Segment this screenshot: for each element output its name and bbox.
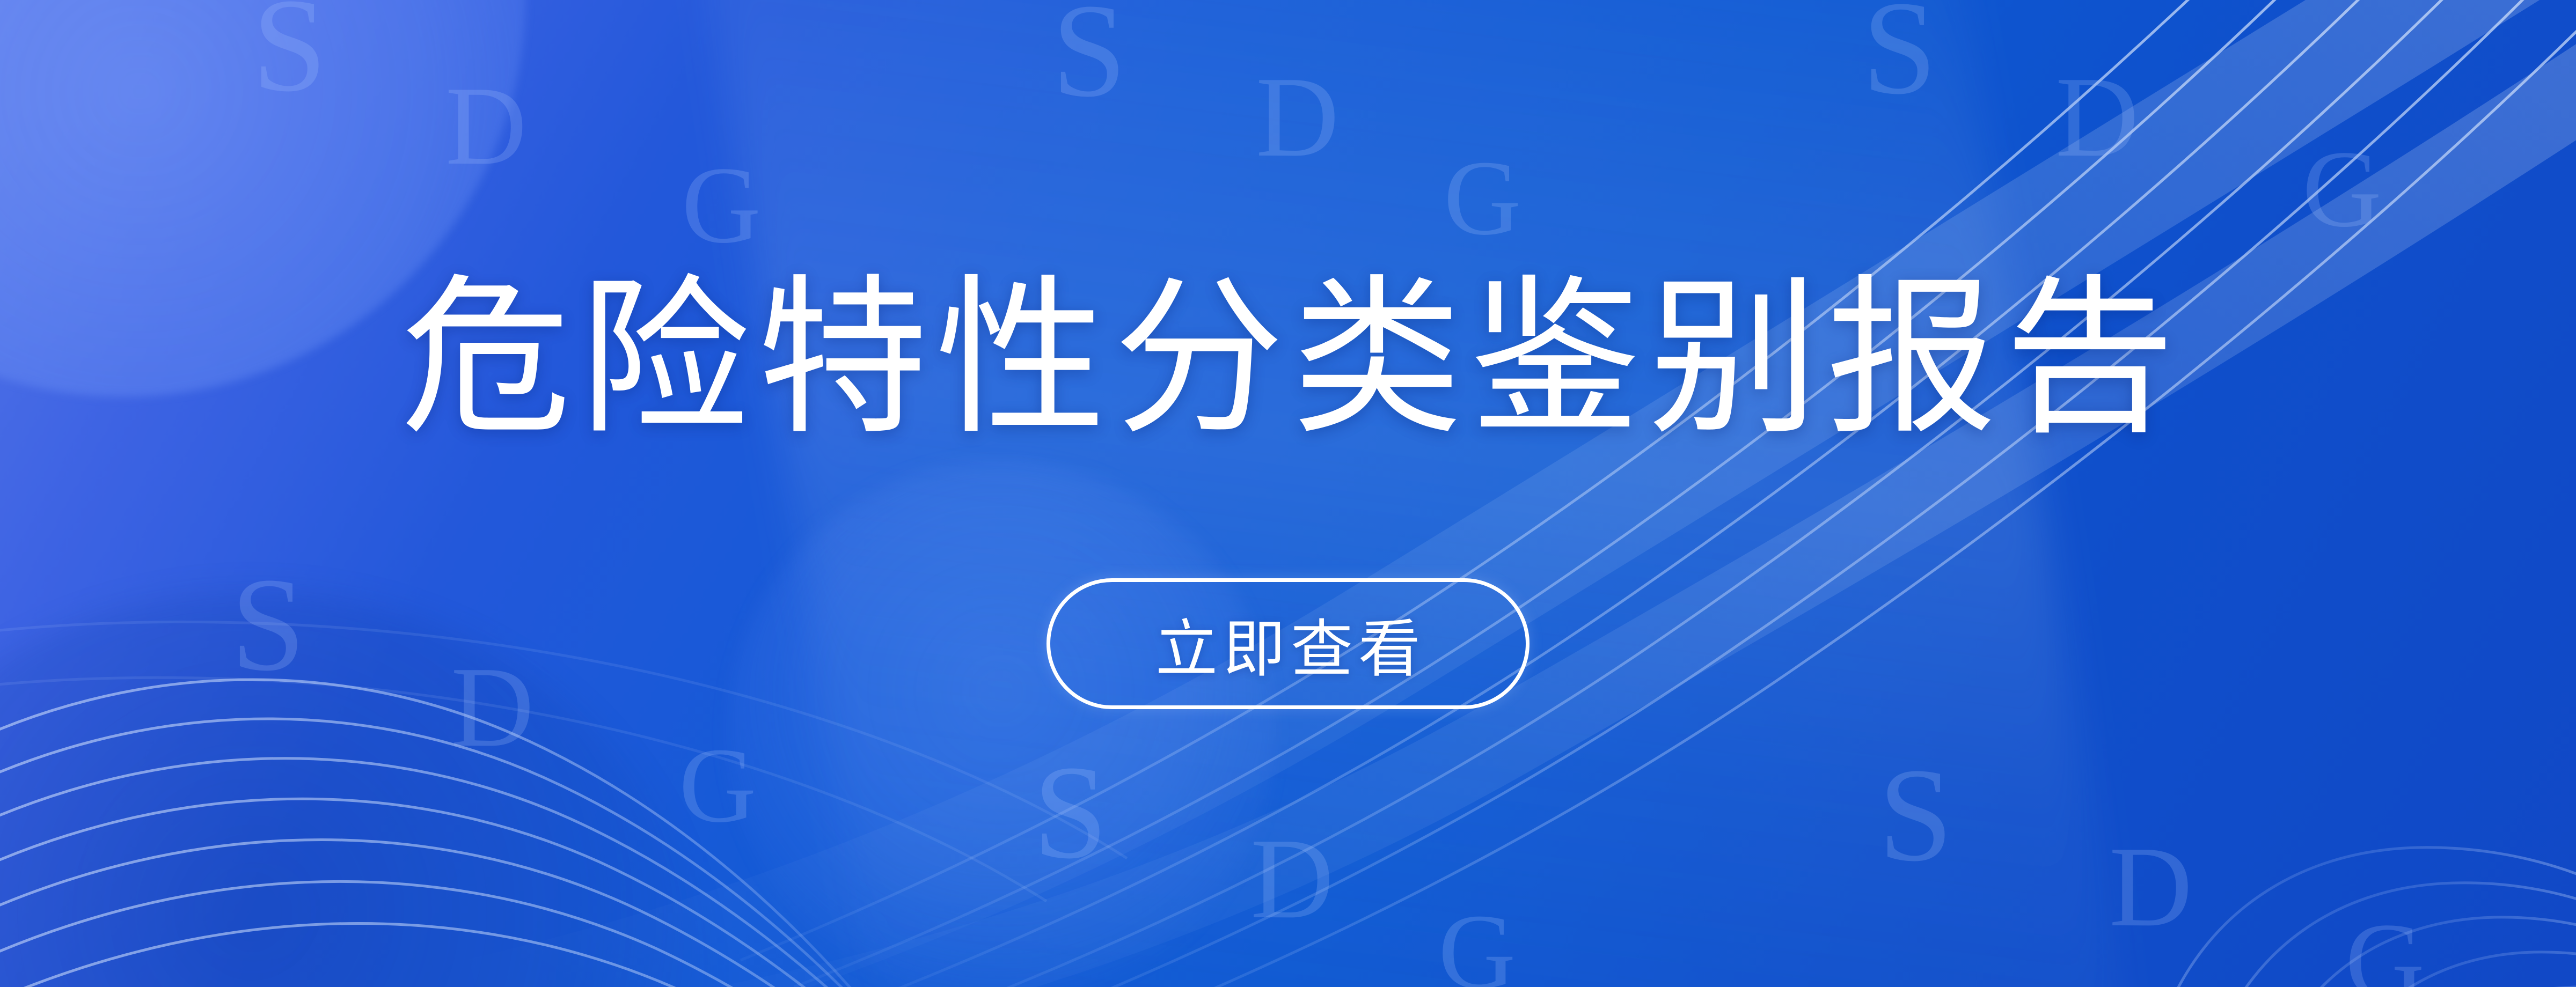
view-now-button[interactable]: 立即查看 (1046, 578, 1529, 709)
banner-content: 危险特性分类鉴别报告 立即查看 (0, 0, 2576, 987)
promo-banner: SDGSDGSDGSDGSDGSDG 危险特性分类鉴别报告 立即查看 (0, 0, 2576, 987)
page-title: 危险特性分类鉴别报告 (0, 268, 2576, 449)
